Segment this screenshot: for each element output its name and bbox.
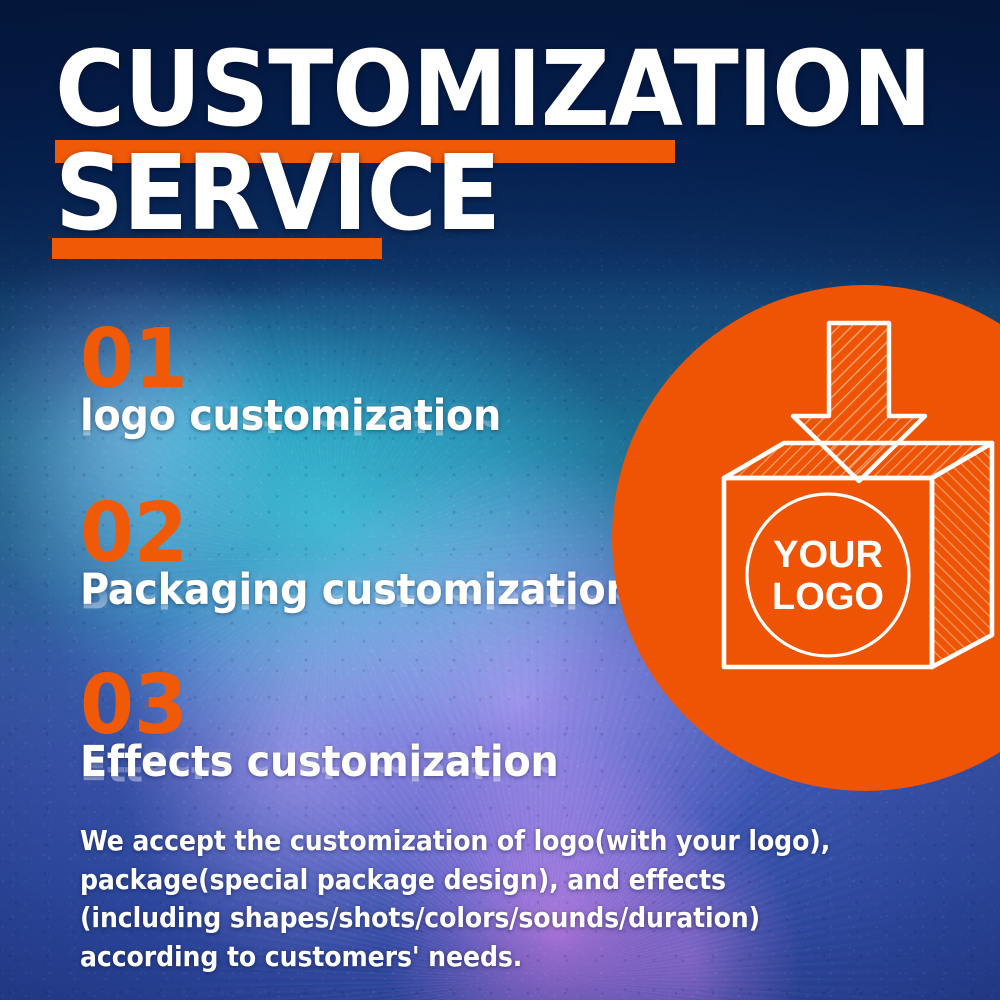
page-title: CUSTOMIZATION SERVICE [55,42,755,138]
your-logo-line-2: LOGO [772,576,884,618]
service-item-01: 01 logo customization logo customization [80,326,489,438]
title-line-1: CUSTOMIZATION [55,42,769,138]
service-item-03: 03 Effects customization Effects customi… [80,672,545,784]
title-line-2: SERVICE [55,146,500,242]
service-item-03-label-wrap: Effects customization Effects customizat… [80,741,545,784]
service-item-02-number: 02 [80,500,644,567]
title-underline-2 [52,238,382,259]
service-item-01-number: 01 [80,326,509,393]
service-item-01-label: logo customization [80,395,501,438]
promo-poster: CUSTOMIZATION SERVICE 01 logo customizat… [0,0,1000,1000]
box-with-down-arrow-icon: YOUR LOGO [612,285,1000,791]
service-item-03-number: 03 [80,672,568,739]
description-paragraph: We accept the customization of logo(with… [80,822,850,977]
your-logo-line-1: YOUR [773,534,883,576]
service-item-03-label: Effects customization [80,741,558,784]
service-item-02-label-wrap: Packaging customization Packaging custom… [80,569,617,612]
service-item-01-label-wrap: logo customization logo customization [80,395,489,438]
service-item-02: 02 Packaging customization Packaging cus… [80,500,617,612]
service-item-02-label: Packaging customization [80,569,634,612]
box-right-face [932,443,992,667]
